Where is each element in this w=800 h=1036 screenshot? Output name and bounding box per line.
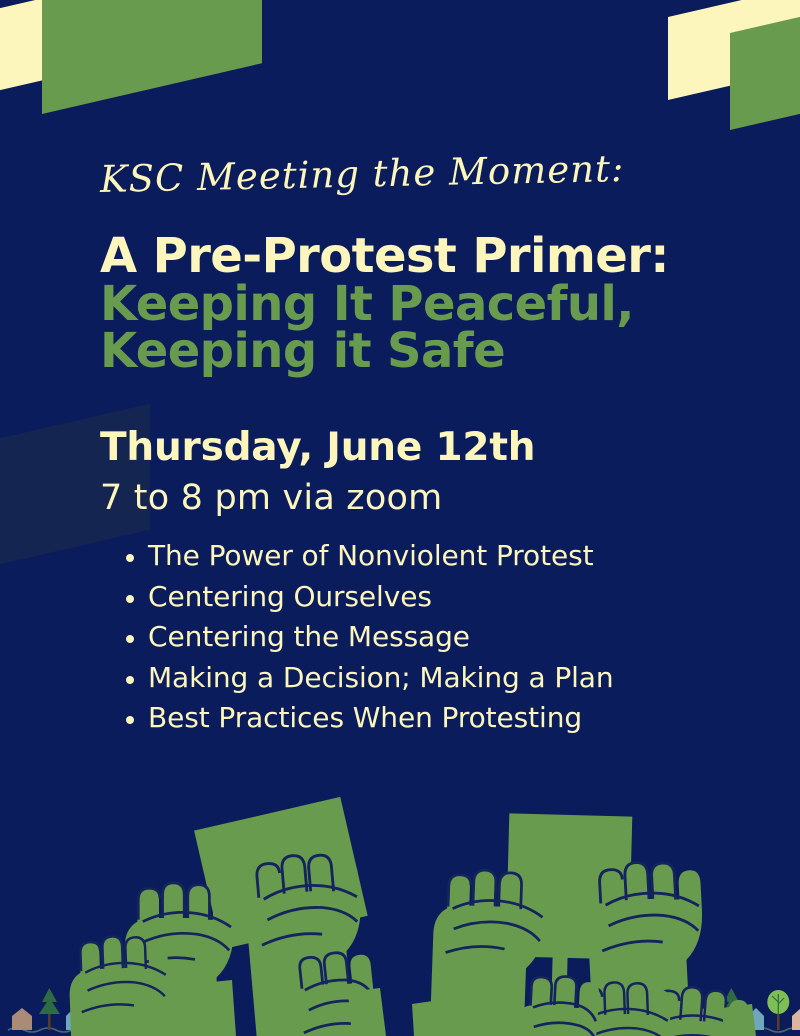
event-date: Thursday, June 12th (100, 425, 535, 470)
page-title: A Pre-Protest Primer: Keeping It Peacefu… (100, 233, 669, 376)
topics-list: The Power of Nonviolent Protest Centerin… (112, 536, 614, 739)
headline-line-1: A Pre-Protest Primer: (100, 233, 669, 281)
list-item: Centering Ourselves (148, 577, 614, 618)
decor-top-right-green-bar (730, 33, 800, 130)
decor-shape (668, 0, 800, 100)
event-poster: KSC Meeting the Moment: A Pre-Protest Pr… (0, 0, 800, 1036)
decor-shape (730, 5, 800, 130)
list-item: Best Practices When Protesting (148, 698, 614, 739)
headline-line-2: Keeping It Peaceful, (100, 281, 669, 329)
decor-shape (0, 0, 155, 104)
event-time: 7 to 8 pm via zoom (100, 478, 442, 518)
decor-top-left-green-bar (42, 0, 262, 114)
headline-line-3: Keeping it Safe (100, 328, 669, 376)
list-item: Making a Decision; Making a Plan (148, 658, 614, 699)
decor-shape (42, 0, 262, 114)
script-eyebrow-title: KSC Meeting the Moment: (100, 147, 625, 201)
protest-illustration (0, 746, 800, 1036)
decor-top-left-cream-bar (0, 22, 155, 104)
list-item: Centering the Message (148, 617, 614, 658)
list-item: The Power of Nonviolent Protest (148, 536, 614, 577)
decor-top-right-cream-bar (668, 17, 800, 100)
